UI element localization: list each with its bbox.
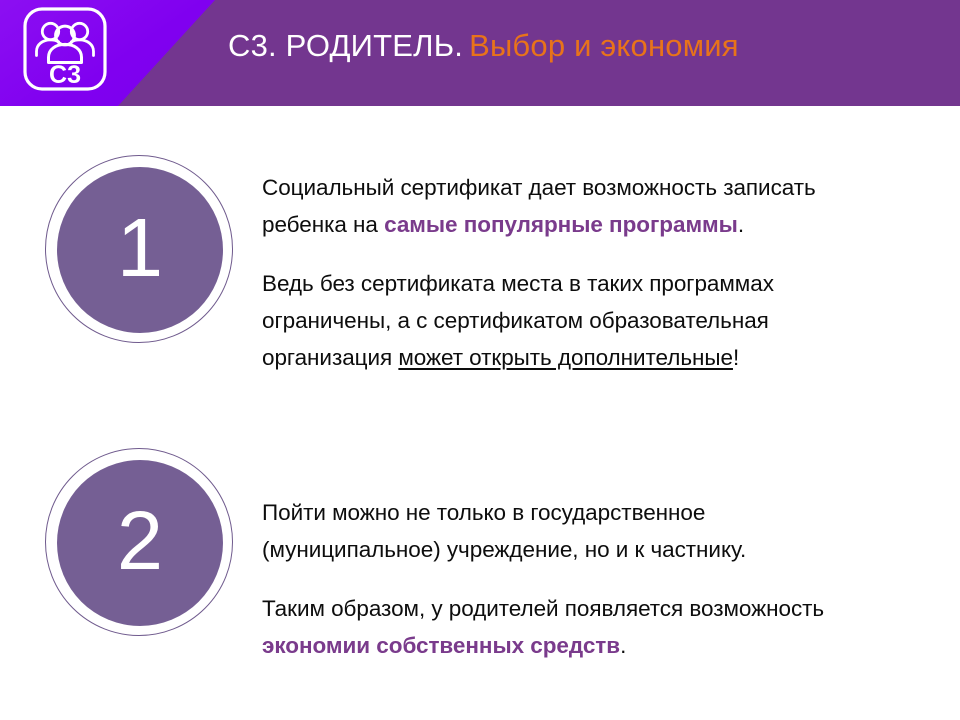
- text-run: .: [620, 633, 626, 658]
- slide-root: С3 С3. РОДИТЕЛЬ.Выбор и экономия 1 Социа…: [0, 0, 960, 720]
- text-run: .: [738, 212, 744, 237]
- logo-label: С3: [49, 61, 81, 89]
- badge-number: 2: [117, 499, 163, 582]
- page-title: С3. РОДИТЕЛЬ.Выбор и экономия: [228, 26, 739, 66]
- highlighted-text-run: самые популярные программы: [384, 212, 738, 237]
- page-title-main: С3. РОДИТЕЛЬ.: [228, 28, 463, 63]
- badge-fill: 1: [57, 167, 223, 333]
- badge-fill: 2: [57, 460, 223, 626]
- underlined-text-run: может открыть дополнительные: [398, 345, 733, 370]
- text-run: !: [733, 345, 739, 370]
- text-run: Таким образом, у родителей появляется во…: [262, 596, 824, 621]
- highlighted-text-run: экономии собственных средств: [262, 633, 620, 658]
- three-people-c3-logo-icon: С3: [19, 4, 111, 96]
- paragraph: Социальный сертификат дает возможность з…: [262, 169, 874, 243]
- badge-number: 1: [117, 206, 163, 289]
- page-title-accent: Выбор и экономия: [469, 28, 739, 63]
- paragraph: Ведь без сертификата места в таких прогр…: [262, 265, 874, 376]
- text-run: Пойти можно не только в государственное …: [262, 500, 746, 562]
- paragraph: Таким образом, у родителей появляется во…: [262, 590, 874, 664]
- paragraph-group-2: Пойти можно не только в государственное …: [262, 494, 874, 664]
- slide-header: С3 С3. РОДИТЕЛЬ.Выбор и экономия: [0, 0, 960, 106]
- number-badge-1: 1: [45, 155, 235, 345]
- number-badge-2: 2: [45, 448, 235, 638]
- paragraph-group-1: Социальный сертификат дает возможность з…: [262, 169, 874, 376]
- paragraph: Пойти можно не только в государственное …: [262, 494, 874, 568]
